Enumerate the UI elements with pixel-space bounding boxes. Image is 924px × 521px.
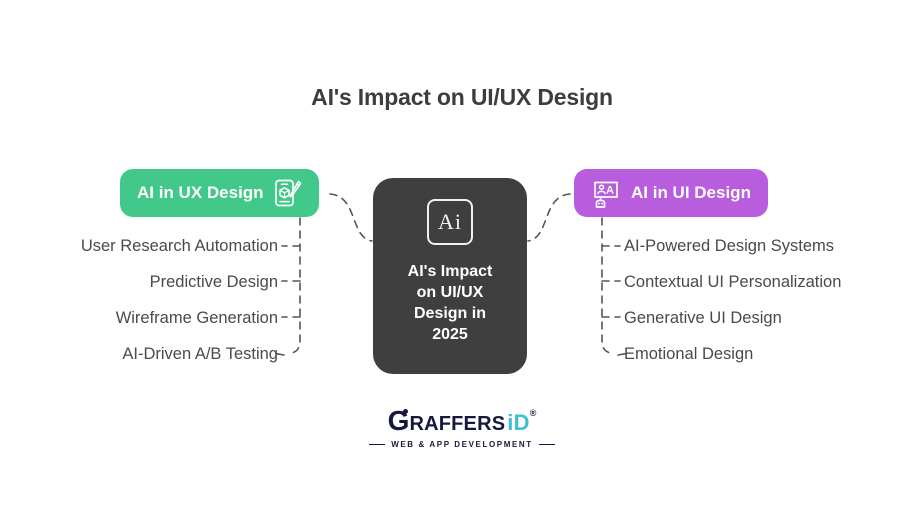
spine-right — [602, 218, 614, 354]
ui-items-list: AI-Powered Design Systems Contextual UI … — [624, 228, 909, 372]
list-item: AI-Driven A/B Testing — [122, 336, 278, 372]
logo-raffers-text: RAFFERS — [409, 414, 505, 435]
connector-ux-to-center — [330, 194, 372, 241]
page-title: AI's Impact on UI/UX Design — [0, 84, 924, 111]
list-item: AI-Powered Design Systems — [624, 228, 834, 264]
list-item: Emotional Design — [624, 336, 753, 372]
branch-pill-ux-label: AI in UX Design — [137, 183, 264, 203]
registered-mark-icon: ® — [530, 408, 537, 418]
connector-ui-to-center — [528, 194, 570, 241]
ux-items-list: User Research Automation Predictive Desi… — [20, 228, 278, 372]
ai-badge-icon: Ai — [427, 199, 473, 245]
list-item: Generative UI Design — [624, 300, 782, 336]
logo-letter-g: G — [388, 408, 410, 435]
list-item: User Research Automation — [81, 228, 278, 264]
list-item: Contextual UI Personalization — [624, 264, 841, 300]
logo-wordmark: G RAFFERS iD ® — [388, 408, 537, 435]
list-item: Predictive Design — [150, 264, 278, 300]
brand-logo: G RAFFERS iD ® WEB & APP DEVELOPMENT — [0, 408, 924, 449]
logo-rule-right — [539, 444, 555, 445]
center-heading: AI's Impact on UI/UX Design in 2025 — [408, 261, 493, 345]
logo-tagline-text: WEB & APP DEVELOPMENT — [391, 440, 533, 449]
spine-left — [288, 218, 300, 354]
robot-screen-icon: A — [591, 178, 621, 208]
ai-badge-label: Ai — [438, 209, 462, 235]
mobile-paintbrush-icon — [274, 178, 302, 208]
branch-pill-ux[interactable]: AI in UX Design — [120, 169, 319, 217]
infographic-canvas: AI's Impact on UI/UX Design AI in UX Des… — [0, 0, 924, 521]
svg-text:A: A — [606, 185, 614, 197]
logo-tagline: WEB & APP DEVELOPMENT — [369, 440, 555, 449]
branch-pill-ui-label: AI in UI Design — [631, 183, 751, 203]
branch-pill-ui[interactable]: A AI in UI Design — [574, 169, 768, 217]
logo-id-text: iD — [505, 412, 529, 435]
center-card: Ai AI's Impact on UI/UX Design in 2025 — [373, 178, 527, 374]
list-item: Wireframe Generation — [116, 300, 278, 336]
logo-rule-left — [369, 444, 385, 445]
